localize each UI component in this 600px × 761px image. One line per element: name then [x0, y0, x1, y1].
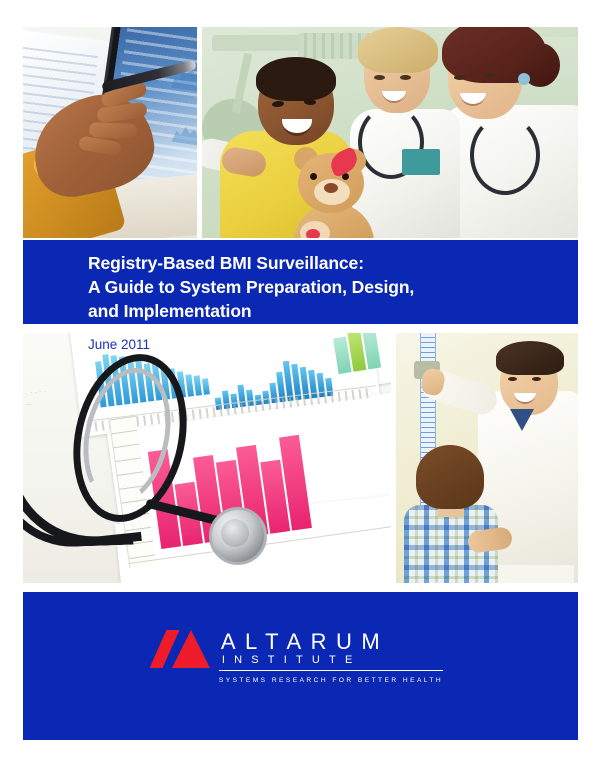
title-line-1: Registry-Based BMI Surveillance:: [88, 251, 364, 275]
title-line-2: A Guide to System Preparation, Design,: [88, 275, 414, 299]
teddy-bear-nose: [324, 183, 338, 193]
publication-date: June 2011: [88, 337, 150, 352]
finger: [89, 122, 137, 139]
stethoscope: [470, 115, 540, 195]
doctor-trousers: [488, 565, 574, 583]
doctor-eye: [454, 75, 466, 80]
teddy-bear-eye: [310, 173, 317, 180]
boy-hair: [256, 57, 336, 101]
green-bar-chart: [332, 333, 381, 374]
nurse-hair: [358, 27, 438, 73]
doctor-earring: [518, 73, 530, 85]
doctor-eye: [484, 73, 496, 78]
logo-wordmark-secondary: INSTITUTE: [219, 653, 443, 667]
doctor-eye: [508, 377, 517, 381]
altarum-institute-logo: ALTARUM INSTITUTE SYSTEMS RESEARCH FOR B…: [23, 630, 578, 687]
logo-wordmark-primary: ALTARUM: [219, 630, 443, 653]
clinician-badge: [402, 149, 440, 175]
cover-page: Registry-Based BMI Surveillance: A Guide…: [0, 0, 600, 761]
doctor-hair: [496, 341, 564, 375]
logo-triangle-shape: [172, 630, 210, 668]
hand-pointing-at-monitor-photo: [23, 27, 197, 238]
nurse-eye: [374, 75, 385, 80]
child-with-clinicians-photo: [202, 27, 578, 238]
title-line-3: and Implementation: [88, 299, 252, 323]
boy-hair-back: [416, 445, 484, 509]
logo-tagline: SYSTEMS RESEARCH FOR BETTER HEALTH: [219, 671, 443, 687]
nurse-eye: [400, 75, 411, 80]
teddy-bear-paw-pad: [306, 229, 320, 238]
footer-block: ALTARUM INSTITUTE SYSTEMS RESEARCH FOR B…: [23, 592, 578, 740]
stethoscope-on-charts-photo: [23, 333, 391, 583]
stethoscope-diaphragm: [221, 519, 249, 547]
title-banner: Registry-Based BMI Surveillance: A Guide…: [23, 240, 578, 324]
altarum-triangle-mark-icon: [158, 630, 210, 668]
doctor-eye: [532, 377, 541, 381]
height-measurement-photo: [396, 333, 578, 583]
